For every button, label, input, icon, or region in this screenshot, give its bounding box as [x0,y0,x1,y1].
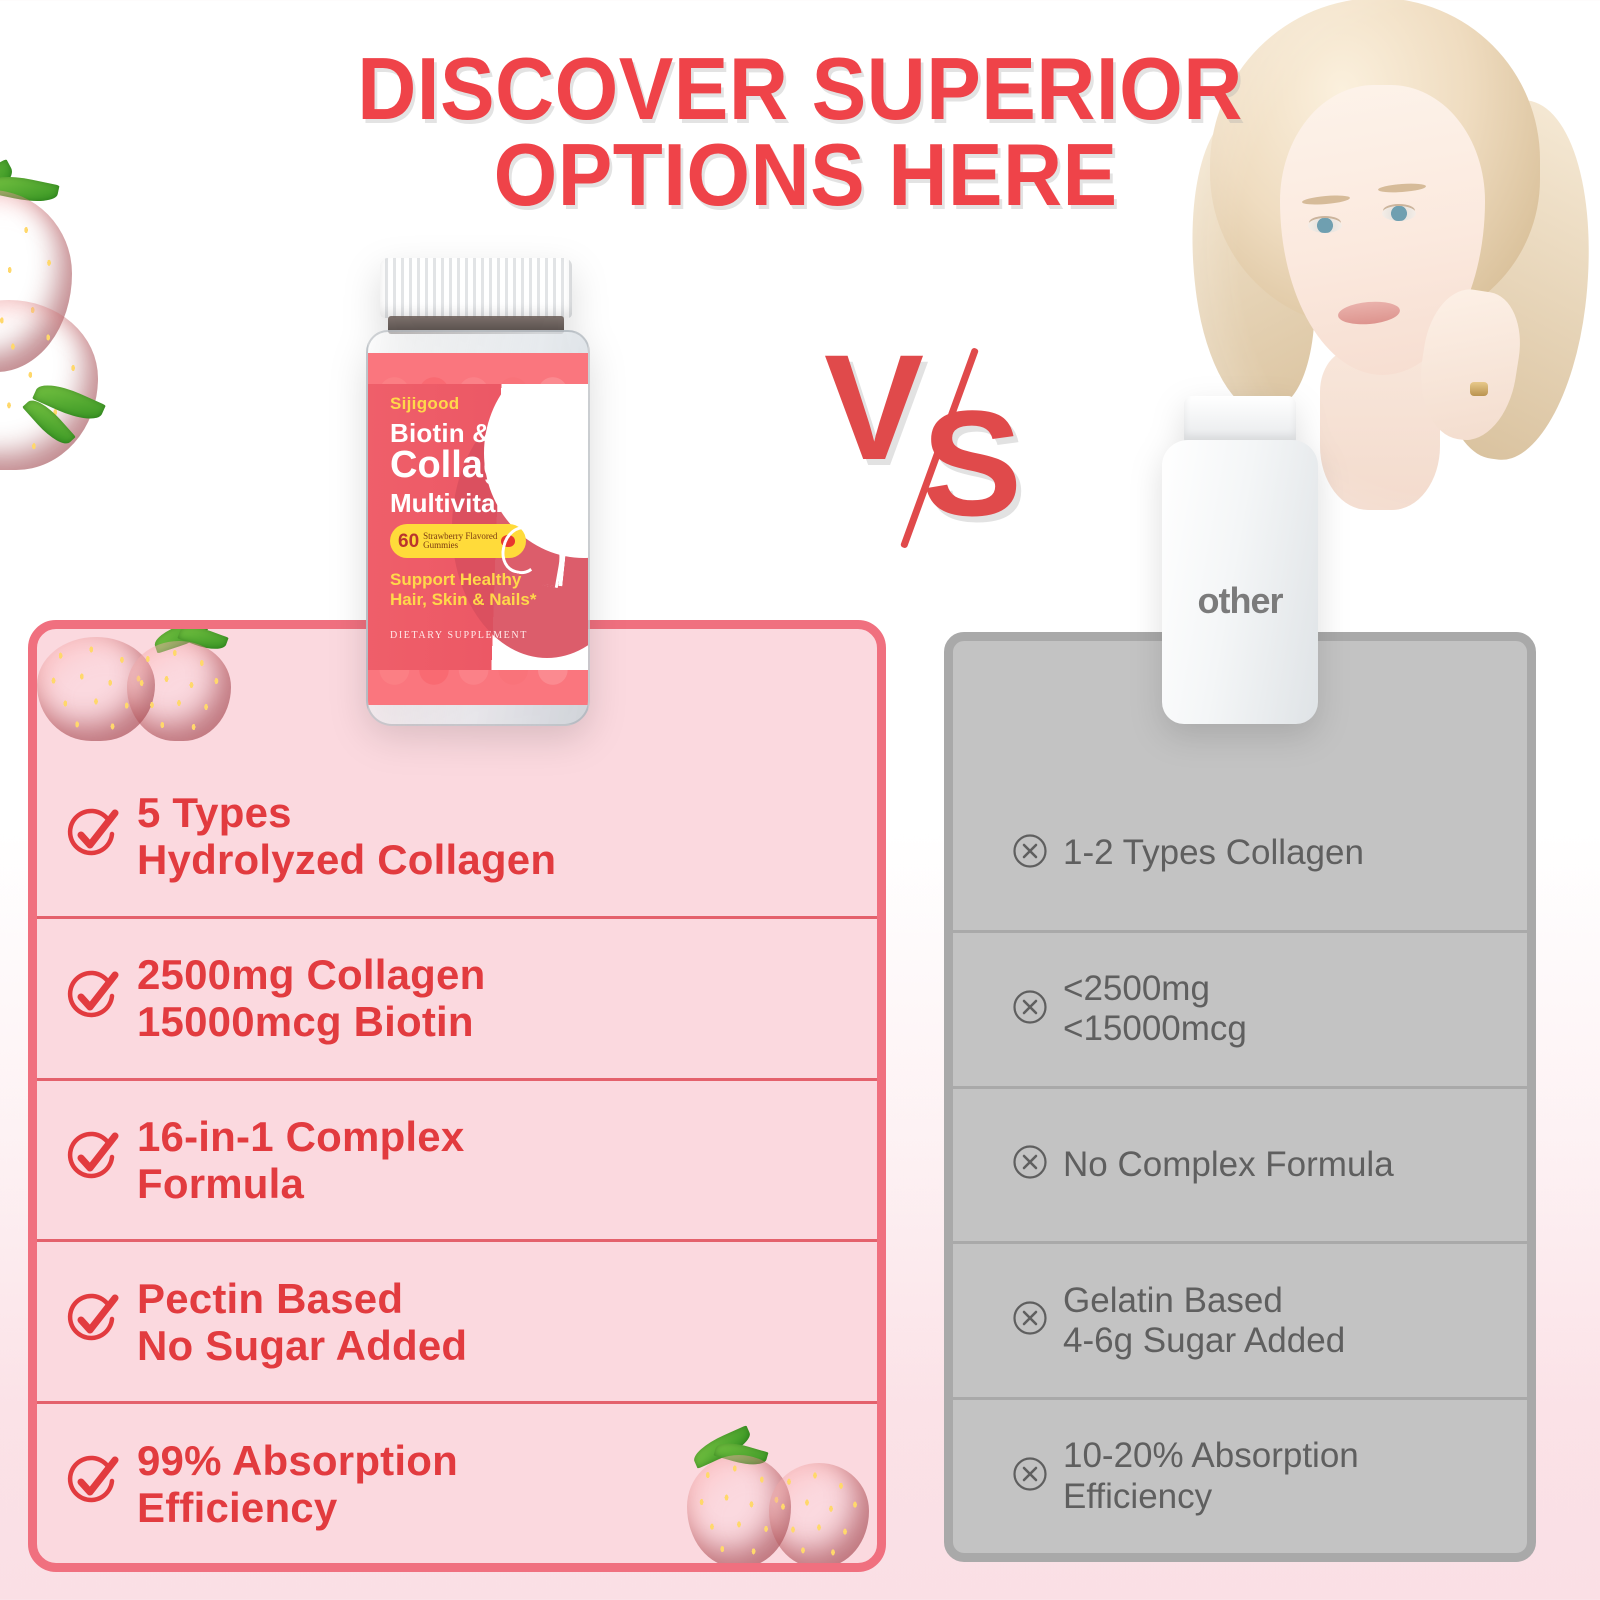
competitor-bottle-label: other [1160,580,1320,622]
list-item: Pectin Based No Sugar Added [37,1242,877,1404]
label-form: Gummies [423,540,458,550]
leaf-icon [32,377,106,427]
theirs-feature-list: 1-2 Types Collagen <2500mg <15000mcg [953,641,1527,1553]
ours-feature-list: 5 Types Hydrolyzed Collagen 2500mg Colla… [37,629,877,1563]
headline-line-2: OPTIONS HERE [56,132,1544,218]
gummies-bottom [368,670,588,724]
label-dietary-supplement: DIETARY SUPPLEMENT [390,630,528,641]
ours-row-1-line-1: 5 Types [137,789,292,836]
strawberry-decoration-panel-bottom [681,1437,871,1567]
list-item: 1-2 Types Collagen [953,777,1527,933]
x-circle-icon [1011,832,1063,875]
woman-hair-icon [486,512,564,598]
list-item: Gelatin Based 4-6g Sugar Added [953,1244,1527,1400]
versus-v: V [824,332,924,482]
headline-line-1: DISCOVER SUPERIOR [56,46,1544,132]
model-neck [1320,350,1440,510]
ours-row-2-line-2: 15000mcg Biotin [137,998,474,1045]
strawberry-icon [769,1463,869,1567]
ours-row-2-line-1: 2500mg Collagen [137,951,485,998]
comparison-panel-theirs: 1-2 Types Collagen <2500mg <15000mcg [944,632,1536,1562]
list-item-text: 1-2 Types Collagen [1063,833,1364,873]
list-item: No Complex Formula [953,1089,1527,1245]
competitor-bottle: other [1160,396,1320,726]
list-item: 10-20% Absorption Efficiency [953,1400,1527,1553]
competitor-bottle-cap [1184,396,1296,442]
check-circle-icon [65,1130,119,1189]
theirs-row-5-line-1: 10-20% Absorption [1063,1436,1359,1475]
list-item: 16-in-1 Complex Formula [37,1081,877,1243]
label-brand: Sijigood [390,394,459,414]
list-item-text: No Complex Formula [1063,1145,1394,1185]
list-item: 5 Types Hydrolyzed Collagen [37,757,877,919]
bottle-body: Sijigood Biotin & Collagen Multivitamin … [366,330,590,726]
bottle-label: Sijigood Biotin & Collagen Multivitamin … [368,384,588,670]
model-ring [1470,382,1488,396]
check-circle-icon [65,969,119,1028]
strawberry-icon [127,641,231,741]
list-item-text: 99% Absorption Efficiency [137,1437,458,1531]
ours-row-3-line-1: 16-in-1 Complex [137,1113,464,1160]
theirs-row-1-line-1: 1-2 Types Collagen [1063,833,1364,872]
x-circle-icon [1011,988,1063,1031]
versus-s: S [922,388,1022,538]
model-hand [1411,283,1528,446]
x-circle-icon [1011,1299,1063,1342]
ours-row-4-line-1: Pectin Based [137,1275,403,1322]
theirs-row-4-line-2: 4-6g Sugar Added [1063,1321,1345,1360]
theirs-row-5-line-2: Efficiency [1063,1477,1212,1516]
list-item-text: 16-in-1 Complex Formula [137,1113,464,1207]
list-item-text: Pectin Based No Sugar Added [137,1275,467,1369]
check-circle-icon [65,807,119,866]
list-item: <2500mg <15000mcg [953,933,1527,1089]
ours-row-3-line-2: Formula [137,1160,304,1207]
gummies-top [368,332,588,392]
page-title: DISCOVER SUPERIOR OPTIONS HERE [0,46,1600,218]
theirs-row-2-line-2: <15000mcg [1063,1009,1247,1048]
check-circle-icon [65,1454,119,1513]
leaf-icon [22,394,76,450]
ours-row-5-line-1: 99% Absorption [137,1437,458,1484]
versus-graphic: V S [818,336,1048,556]
strawberry-icon [0,300,98,470]
model-lips [1337,299,1401,326]
x-circle-icon [1011,1143,1063,1186]
ours-row-5-line-2: Efficiency [137,1484,337,1531]
strawberry-decoration-panel-top [41,623,231,743]
list-item-text: Gelatin Based 4-6g Sugar Added [1063,1281,1345,1362]
check-circle-icon [65,1292,119,1351]
label-title-2: Collagen [390,444,550,487]
theirs-row-4-line-1: Gelatin Based [1063,1281,1283,1320]
theirs-row-3-line-1: No Complex Formula [1063,1145,1394,1184]
model-eye-left [1308,218,1342,233]
ours-row-1-line-2: Hydrolyzed Collagen [137,836,556,883]
bottle-cap [380,258,572,318]
list-item-text: <2500mg <15000mcg [1063,969,1247,1050]
ours-row-4-line-2: No Sugar Added [137,1322,467,1369]
theirs-row-2-line-1: <2500mg [1063,969,1210,1008]
x-circle-icon [1011,1455,1063,1498]
comparison-panel-ours: 5 Types Hydrolyzed Collagen 2500mg Colla… [28,620,886,1572]
list-item: 2500mg Collagen 15000mcg Biotin [37,919,877,1081]
list-item-text: 5 Types Hydrolyzed Collagen [137,789,556,883]
product-bottle: Sijigood Biotin & Collagen Multivitamin … [352,258,600,728]
list-item-text: 10-20% Absorption Efficiency [1063,1436,1359,1517]
list-item-text: 2500mg Collagen 15000mcg Biotin [137,951,485,1045]
label-count: 60 [398,532,419,551]
